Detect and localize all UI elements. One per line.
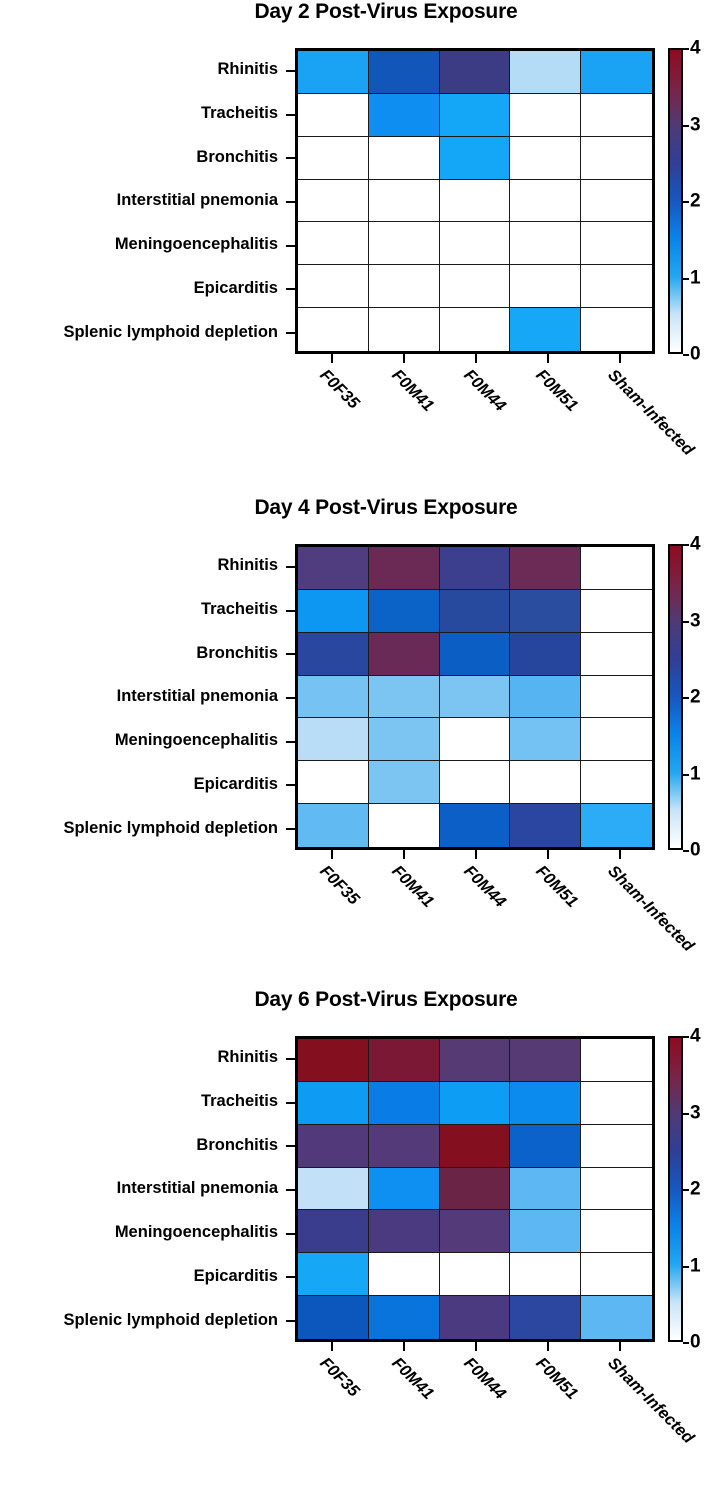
colorbar-gradient	[670, 546, 681, 848]
colorbar-tick-label: 4	[690, 535, 701, 554]
x-axis-ticks: F0F35F0M41F0M44F0M51Sham-Infected	[295, 354, 655, 364]
panel-title: Day 2 Post-Virus Exposure	[0, 0, 710, 24]
heatmap-cell	[581, 1210, 652, 1253]
y-axis-label: Rhinitis	[0, 544, 287, 588]
panel-title: Day 6 Post-Virus Exposure	[0, 988, 710, 1012]
y-axis-label: Bronchitis	[0, 135, 287, 179]
colorbar-tick	[683, 1189, 689, 1191]
heatmap-cell	[581, 804, 652, 847]
y-axis-tick	[286, 828, 295, 830]
y-axis-tick	[286, 70, 295, 72]
heatmap-cell	[298, 265, 369, 308]
heatmap-cell	[298, 51, 369, 94]
y-axis-label: Interstitial pnemonia	[0, 179, 287, 223]
heatmap-cell	[369, 222, 440, 265]
x-axis-label: F0M41	[388, 1354, 438, 1404]
heatmap-cell	[369, 676, 440, 719]
heatmap-cell	[581, 761, 652, 804]
heatmap-cell	[510, 222, 581, 265]
y-axis-label: Epicarditis	[0, 1255, 287, 1299]
heatmap-plot	[295, 544, 655, 850]
x-axis-tick	[331, 850, 333, 859]
x-axis-label: Sham-Infected	[604, 366, 698, 460]
heatmap-cell	[581, 1039, 652, 1082]
heatmap-cell	[440, 676, 511, 719]
heatmap-cell	[369, 1210, 440, 1253]
heatmap-figure: Day 2 Post-Virus Exposure RhinitisTrache…	[0, 0, 710, 1487]
x-axis-tick	[547, 850, 549, 859]
heatmap-cell	[510, 180, 581, 223]
heatmap-cell	[440, 308, 511, 351]
heatmap-cell	[440, 1210, 511, 1253]
colorbar-tick	[683, 1266, 689, 1268]
heatmap-cell	[510, 547, 581, 590]
heatmap-cell	[369, 94, 440, 137]
heatmap-cell	[298, 180, 369, 223]
heatmap-cell	[369, 718, 440, 761]
heatmap-cell	[298, 1168, 369, 1211]
y-axis-label: Interstitial pnemonia	[0, 675, 287, 719]
heatmap-cell	[298, 137, 369, 180]
y-axis-labels: RhinitisTracheitisBronchitisInterstitial…	[0, 544, 287, 850]
heatmap-cell	[298, 94, 369, 137]
heatmap-cell	[440, 94, 511, 137]
x-axis-tick	[619, 850, 621, 859]
x-axis-tick	[619, 1342, 621, 1351]
y-axis-label: Splenic lymphoid depletion	[0, 1298, 287, 1342]
heatmap-cell	[581, 137, 652, 180]
heatmap-cell	[510, 1039, 581, 1082]
heatmap-cell	[581, 1082, 652, 1125]
x-axis-label: F0M44	[460, 366, 510, 416]
panel-title: Day 4 Post-Virus Exposure	[0, 496, 710, 520]
heatmap-cell	[369, 590, 440, 633]
colorbar-tick-label: 4	[690, 1027, 701, 1046]
panel-day-4: Day 4 Post-Virus Exposure RhinitisTrache…	[0, 496, 710, 976]
y-axis-tick	[286, 114, 295, 116]
heatmap-cell	[298, 1039, 369, 1082]
x-axis-label: F0F35	[316, 862, 363, 909]
y-axis-label: Bronchitis	[0, 631, 287, 675]
heatmap-cell	[440, 1296, 511, 1339]
heatmap-cell	[581, 1253, 652, 1296]
colorbar	[668, 48, 683, 354]
colorbar-tick	[683, 354, 689, 356]
y-axis-tick	[286, 1276, 295, 1278]
heatmap-cell	[510, 1082, 581, 1125]
heatmap-cell	[440, 1253, 511, 1296]
heatmap-cell	[581, 180, 652, 223]
heatmap-cell	[440, 265, 511, 308]
heatmap-cell	[581, 308, 652, 351]
heatmap-cell	[298, 718, 369, 761]
y-axis-tick	[286, 288, 295, 290]
x-axis-label: F0F35	[316, 1354, 363, 1401]
colorbar-tick	[683, 48, 689, 50]
colorbar-tick-label: 3	[690, 611, 701, 630]
heatmap-cell	[510, 761, 581, 804]
x-axis-label: F0M41	[388, 862, 438, 912]
colorbar	[668, 1036, 683, 1342]
y-axis-labels: RhinitisTracheitisBronchitisInterstitial…	[0, 48, 287, 354]
y-axis-tick	[286, 1102, 295, 1104]
panel-day-2: Day 2 Post-Virus Exposure RhinitisTrache…	[0, 0, 710, 480]
heatmap-cell	[510, 265, 581, 308]
y-axis-tick	[286, 1189, 295, 1191]
colorbar-tick-label: 3	[690, 115, 701, 134]
colorbar-tick-label: 2	[690, 1180, 701, 1199]
heatmap-cell	[298, 804, 369, 847]
heatmap-plot	[295, 1036, 655, 1342]
heatmap-cell	[369, 51, 440, 94]
y-axis-label: Meningoencephalitis	[0, 719, 287, 763]
x-axis-label: F0M44	[460, 1354, 510, 1404]
colorbar-tick-label: 2	[690, 192, 701, 211]
colorbar-tick	[683, 125, 689, 127]
heatmap-cell	[581, 94, 652, 137]
heatmap-cell	[369, 1296, 440, 1339]
heatmap-cell	[298, 1253, 369, 1296]
heatmap-cell	[369, 180, 440, 223]
colorbar-tick	[683, 1113, 689, 1115]
x-axis-tick	[475, 850, 477, 859]
y-axis-label: Tracheitis	[0, 1080, 287, 1124]
heatmap-cell	[369, 1253, 440, 1296]
colorbar-tick	[683, 278, 689, 280]
heatmap-cell	[510, 308, 581, 351]
heatmap-cell	[369, 761, 440, 804]
x-axis-label: Sham-Infected	[604, 1354, 698, 1448]
x-axis-ticks: F0F35F0M41F0M44F0M51Sham-Infected	[295, 1342, 655, 1352]
colorbar-gradient	[670, 1038, 681, 1340]
heatmap-grid	[298, 1039, 652, 1339]
heatmap-cell	[369, 633, 440, 676]
heatmap-cell	[581, 1125, 652, 1168]
heatmap-cell	[440, 804, 511, 847]
heatmap-cell	[298, 308, 369, 351]
heatmap-cell	[298, 1210, 369, 1253]
heatmap-cell	[369, 137, 440, 180]
heatmap-cell	[369, 804, 440, 847]
heatmap-cell	[369, 547, 440, 590]
y-axis-label: Meningoencephalitis	[0, 223, 287, 267]
heatmap-cell	[581, 1168, 652, 1211]
y-axis-label: Meningoencephalitis	[0, 1211, 287, 1255]
y-axis-tick	[286, 201, 295, 203]
x-axis-tick	[403, 354, 405, 363]
colorbar-tick-label: 1	[690, 764, 701, 783]
heatmap-cell	[510, 94, 581, 137]
heatmap-cell	[369, 1082, 440, 1125]
heatmap-cell	[298, 590, 369, 633]
heatmap-cell	[510, 51, 581, 94]
heatmap-cell	[298, 1296, 369, 1339]
x-axis-label: F0M41	[388, 366, 438, 416]
x-axis-label: F0M51	[532, 1354, 582, 1404]
y-axis-label: Bronchitis	[0, 1123, 287, 1167]
colorbar-tick	[683, 697, 689, 699]
y-axis-label: Interstitial pnemonia	[0, 1167, 287, 1211]
heatmap-plot	[295, 48, 655, 354]
heatmap-cell	[440, 51, 511, 94]
x-axis-tick	[547, 1342, 549, 1351]
x-axis-tick	[331, 354, 333, 363]
colorbar-tick-label: 0	[690, 1333, 701, 1352]
heatmap-cell	[581, 718, 652, 761]
colorbar-tick	[683, 850, 689, 852]
colorbar-tick-label: 1	[690, 268, 701, 287]
heatmap-cell	[440, 1125, 511, 1168]
panel-day-6: Day 6 Post-Virus Exposure RhinitisTrache…	[0, 988, 710, 1468]
colorbar-ticks: 01234	[683, 1036, 710, 1342]
y-axis-tick	[286, 1145, 295, 1147]
x-axis-tick	[331, 1342, 333, 1351]
colorbar-tick	[683, 544, 689, 546]
heatmap-cell	[440, 590, 511, 633]
heatmap-cell	[510, 718, 581, 761]
colorbar-tick	[683, 201, 689, 203]
x-axis-label: Sham-Infected	[604, 862, 698, 956]
y-axis-labels: RhinitisTracheitisBronchitisInterstitial…	[0, 1036, 287, 1342]
colorbar-tick	[683, 1342, 689, 1344]
colorbar-tick-label: 0	[690, 345, 701, 364]
heatmap-cell	[369, 1125, 440, 1168]
heatmap-cell	[510, 1296, 581, 1339]
heatmap-cell	[298, 222, 369, 265]
heatmap-cell	[510, 804, 581, 847]
colorbar-tick-label: 1	[690, 1256, 701, 1275]
heatmap-cell	[510, 1253, 581, 1296]
x-axis-tick	[475, 354, 477, 363]
heatmap-cell	[581, 51, 652, 94]
colorbar-tick-label: 0	[690, 841, 701, 860]
heatmap-cell	[369, 1168, 440, 1211]
y-axis-tick	[286, 610, 295, 612]
colorbar-tick-label: 3	[690, 1103, 701, 1122]
x-axis-label: F0F35	[316, 366, 363, 413]
heatmap-cell	[440, 1039, 511, 1082]
heatmap-cell	[510, 1168, 581, 1211]
colorbar-tick	[683, 621, 689, 623]
heatmap-cell	[440, 137, 511, 180]
colorbar-tick	[683, 1036, 689, 1038]
heatmap-cell	[440, 222, 511, 265]
heatmap-cell	[581, 547, 652, 590]
y-axis-tick	[286, 157, 295, 159]
heatmap-grid	[298, 51, 652, 351]
heatmap-cell	[581, 676, 652, 719]
colorbar	[668, 544, 683, 850]
heatmap-cell	[369, 308, 440, 351]
y-axis-label: Rhinitis	[0, 48, 287, 92]
x-axis-label: F0M44	[460, 862, 510, 912]
y-axis-label: Tracheitis	[0, 92, 287, 136]
x-axis-tick	[547, 354, 549, 363]
heatmap-cell	[440, 1082, 511, 1125]
y-axis-label: Epicarditis	[0, 267, 287, 311]
x-axis-label: F0M51	[532, 366, 582, 416]
y-axis-label: Tracheitis	[0, 588, 287, 632]
heatmap-cell	[440, 1168, 511, 1211]
heatmap-cell	[581, 1296, 652, 1339]
y-axis-label: Splenic lymphoid depletion	[0, 310, 287, 354]
x-axis-tick	[619, 354, 621, 363]
y-axis-tick	[286, 245, 295, 247]
heatmap-cell	[581, 222, 652, 265]
heatmap-cell	[369, 1039, 440, 1082]
heatmap-cell	[510, 1125, 581, 1168]
heatmap-cell	[298, 633, 369, 676]
y-axis-tick	[286, 1320, 295, 1322]
heatmap-cell	[440, 761, 511, 804]
heatmap-cell	[440, 547, 511, 590]
y-axis-label: Rhinitis	[0, 1036, 287, 1080]
heatmap-cell	[440, 718, 511, 761]
heatmap-cell	[510, 633, 581, 676]
heatmap-cell	[298, 1125, 369, 1168]
heatmap-cell	[581, 265, 652, 308]
heatmap-cell	[581, 590, 652, 633]
y-axis-tick	[286, 741, 295, 743]
colorbar-tick-label: 2	[690, 688, 701, 707]
y-axis-tick	[286, 1058, 295, 1060]
x-axis-label: F0M51	[532, 862, 582, 912]
heatmap-cell	[440, 633, 511, 676]
y-axis-tick	[286, 332, 295, 334]
y-axis-tick	[286, 566, 295, 568]
heatmap-cell	[298, 676, 369, 719]
y-axis-tick	[286, 653, 295, 655]
heatmap-cell	[298, 1082, 369, 1125]
y-axis-tick	[286, 697, 295, 699]
heatmap-cell	[298, 761, 369, 804]
colorbar-ticks: 01234	[683, 48, 710, 354]
heatmap-cell	[510, 676, 581, 719]
heatmap-cell	[510, 1210, 581, 1253]
colorbar-tick-label: 4	[690, 39, 701, 58]
x-axis-tick	[403, 850, 405, 859]
heatmap-cell	[510, 137, 581, 180]
heatmap-cell	[510, 590, 581, 633]
x-axis-ticks: F0F35F0M41F0M44F0M51Sham-Infected	[295, 850, 655, 860]
heatmap-cell	[581, 633, 652, 676]
heatmap-cell	[369, 265, 440, 308]
y-axis-label: Splenic lymphoid depletion	[0, 806, 287, 850]
heatmap-grid	[298, 547, 652, 847]
heatmap-cell	[440, 180, 511, 223]
y-axis-label: Epicarditis	[0, 763, 287, 807]
x-axis-tick	[475, 1342, 477, 1351]
x-axis-tick	[403, 1342, 405, 1351]
y-axis-tick	[286, 784, 295, 786]
y-axis-tick	[286, 1233, 295, 1235]
colorbar-tick	[683, 774, 689, 776]
heatmap-cell	[298, 547, 369, 590]
colorbar-gradient	[670, 50, 681, 352]
colorbar-ticks: 01234	[683, 544, 710, 850]
